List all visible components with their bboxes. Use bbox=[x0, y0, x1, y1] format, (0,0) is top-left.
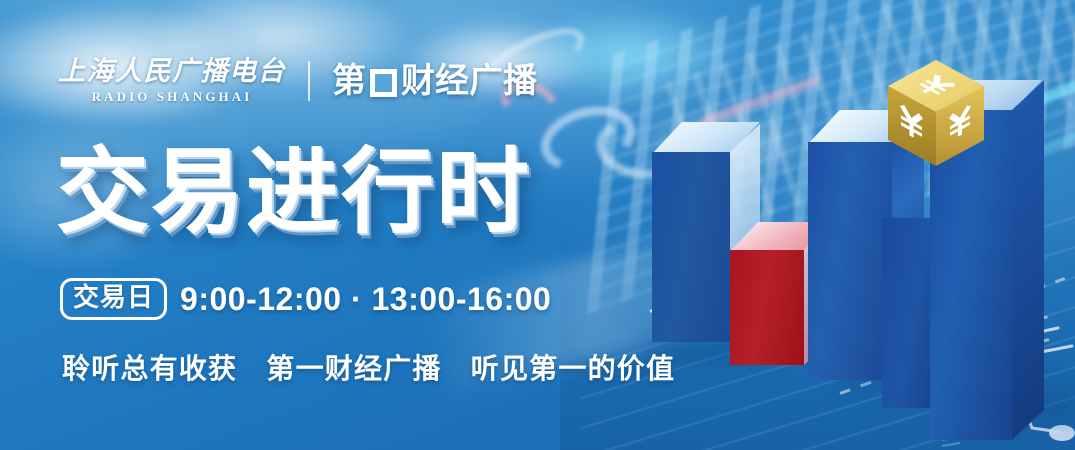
program-title: 交易进行时 bbox=[56, 146, 531, 239]
channel-yi-box-icon bbox=[370, 69, 397, 97]
bar-front-face bbox=[730, 250, 804, 365]
bar-front-face bbox=[808, 142, 892, 380]
chart-bar-3 bbox=[808, 142, 892, 380]
bar-front-face bbox=[652, 152, 730, 342]
channel-name-part1: 第 bbox=[332, 64, 366, 98]
radio-program-banner: 上海人民广播电台 RADIO SHANGHAI 第 财经广播 交易进行时 交易日… bbox=[0, 0, 1075, 450]
logo-lockup: 上海人民广播电台 RADIO SHANGHAI 第 财经广播 bbox=[58, 58, 537, 103]
gold-yuan-cube-icon bbox=[884, 58, 988, 170]
chart-bar-2 bbox=[730, 250, 804, 365]
isometric-bar-chart bbox=[630, 60, 1060, 450]
logo-divider bbox=[308, 61, 310, 101]
tagline: 聆听总有收获 第一财经广播 听见第一的价值 bbox=[62, 355, 675, 383]
station-name-en: RADIO SHANGHAI bbox=[92, 90, 253, 103]
chart-bar-1 bbox=[652, 152, 730, 342]
station-name-cn: 上海人民广播电台 bbox=[58, 58, 286, 85]
broadcast-hours: 9:00-12:00 · 13:00-16:00 bbox=[180, 283, 551, 315]
channel-name-part2: 财经广播 bbox=[401, 64, 537, 98]
ribbon-swirl bbox=[533, 96, 642, 182]
radio-shanghai-logo: 上海人民广播电台 RADIO SHANGHAI bbox=[58, 58, 286, 103]
schedule-row: 交易日 9:00-12:00 · 13:00-16:00 bbox=[60, 278, 551, 320]
trading-day-badge: 交易日 bbox=[60, 278, 167, 320]
bar-side-face bbox=[1012, 80, 1044, 440]
channel-logo: 第 财经广播 bbox=[332, 64, 537, 98]
